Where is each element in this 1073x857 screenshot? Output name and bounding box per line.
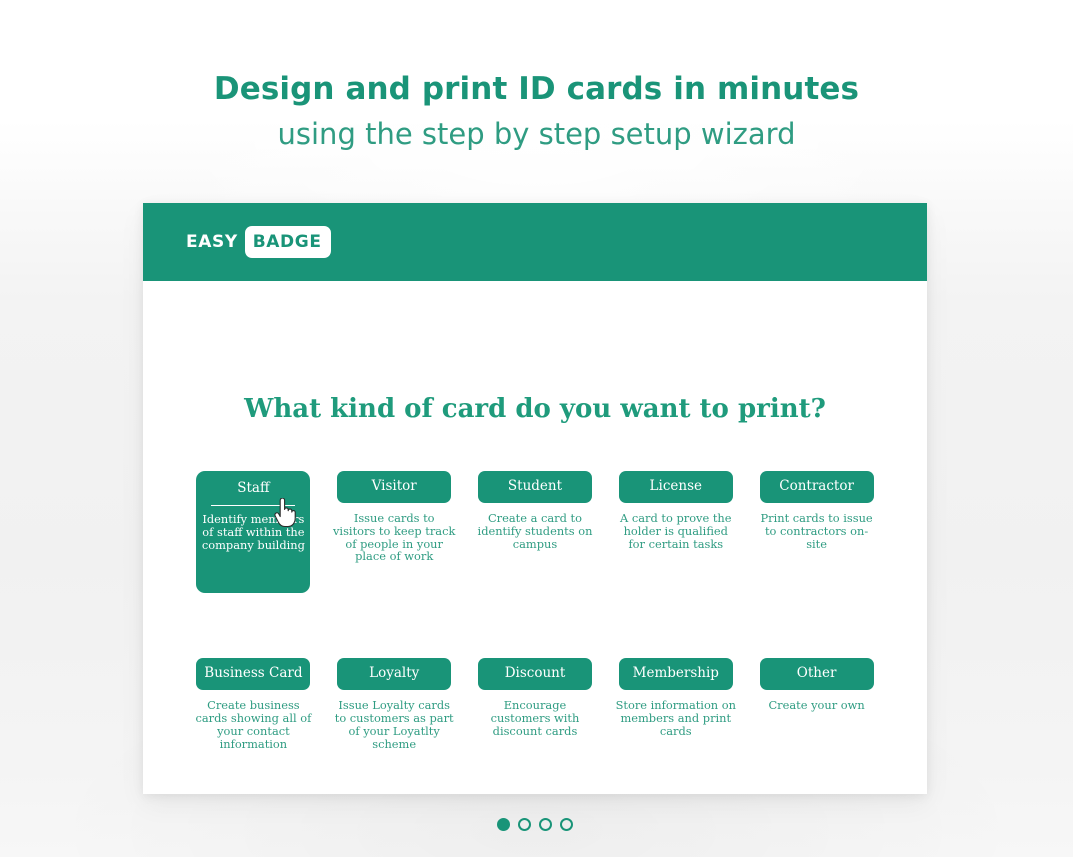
pagination-dot-1[interactable] (497, 818, 510, 831)
card-type-label: Loyalty (337, 658, 451, 690)
card-type-label: Membership (619, 658, 733, 690)
card-type-label: Business Card (196, 658, 310, 690)
app-header: EASY BADGE (143, 203, 927, 281)
card-type-cell: Membership Store information on members … (605, 658, 746, 756)
card-type-cell: License A card to prove the holder is qu… (605, 471, 746, 593)
wizard-panel: EASY BADGE What kind of card do you want… (143, 203, 927, 794)
card-type-cell: Student Create a card to identify studen… (465, 471, 606, 593)
card-type-label: License (619, 471, 733, 503)
card-type-grid: Staff Identify members of staff within t… (183, 471, 887, 757)
pagination-dot-4[interactable] (560, 818, 573, 831)
hero-heading: Design and print ID cards in minutes usi… (0, 66, 1073, 156)
card-type-description: A card to prove the holder is qualified … (614, 512, 738, 550)
card-type-cell: Other Create your own (746, 658, 887, 756)
wizard-body: What kind of card do you want to print? … (143, 281, 927, 794)
card-type-option-staff[interactable]: Staff Identify members of staff within t… (196, 471, 310, 593)
pagination-dot-2[interactable] (518, 818, 531, 831)
card-type-cell: Staff Identify members of staff within t… (183, 471, 324, 593)
card-type-description: Issue cards to visitors to keep track of… (332, 512, 456, 563)
pagination-dot-3[interactable] (539, 818, 552, 831)
hero-title: Design and print ID cards in minutes (0, 66, 1073, 112)
card-type-cell: Business Card Create business cards show… (183, 658, 324, 756)
card-type-description: Encourage customers with discount cards (473, 699, 597, 737)
card-type-description: Create a card to identify students on ca… (473, 512, 597, 550)
card-type-label: Student (478, 471, 592, 503)
hero-subtitle: using the step by step setup wizard (0, 112, 1073, 156)
card-type-description: Issue Loyalty cards to customers as part… (332, 699, 456, 750)
card-type-description: Create your own (755, 699, 879, 712)
logo-word-easy: EASY (186, 232, 245, 252)
card-type-cell: Discount Encourage customers with discou… (465, 658, 606, 756)
card-type-description: Create business cards showing all of you… (191, 699, 315, 750)
card-type-option-business-card[interactable]: Business Card Create business cards show… (196, 658, 310, 756)
logo-word-badge: BADGE (245, 226, 331, 258)
card-type-description: Identify members of staff within the com… (198, 513, 308, 551)
card-type-option-visitor[interactable]: Visitor Issue cards to visitors to keep … (337, 471, 451, 569)
card-type-option-membership[interactable]: Membership Store information on members … (619, 658, 733, 743)
card-type-label: Contractor (760, 471, 874, 503)
card-type-label: Staff (196, 471, 310, 502)
easybadge-logo[interactable]: EASY BADGE (186, 203, 331, 281)
card-type-cell: Visitor Issue cards to visitors to keep … (324, 471, 465, 593)
card-type-option-student[interactable]: Student Create a card to identify studen… (478, 471, 592, 556)
card-type-option-discount[interactable]: Discount Encourage customers with discou… (478, 658, 592, 743)
card-type-option-contractor[interactable]: Contractor Print cards to issue to contr… (760, 471, 874, 556)
card-type-label: Discount (478, 658, 592, 690)
card-type-label: Other (760, 658, 874, 690)
card-type-cell: Loyalty Issue Loyalty cards to customers… (324, 658, 465, 756)
card-type-option-license[interactable]: License A card to prove the holder is qu… (619, 471, 733, 556)
wizard-pagination (143, 818, 927, 831)
card-type-description: Print cards to issue to contractors on-s… (755, 512, 879, 550)
wizard-question: What kind of card do you want to print? (143, 394, 927, 424)
card-type-cell: Contractor Print cards to issue to contr… (746, 471, 887, 593)
card-type-label: Visitor (337, 471, 451, 503)
card-type-description: Store information on members and print c… (614, 699, 738, 737)
card-type-option-other[interactable]: Other Create your own (760, 658, 874, 718)
card-type-option-loyalty[interactable]: Loyalty Issue Loyalty cards to customers… (337, 658, 451, 756)
option-divider (211, 505, 295, 506)
